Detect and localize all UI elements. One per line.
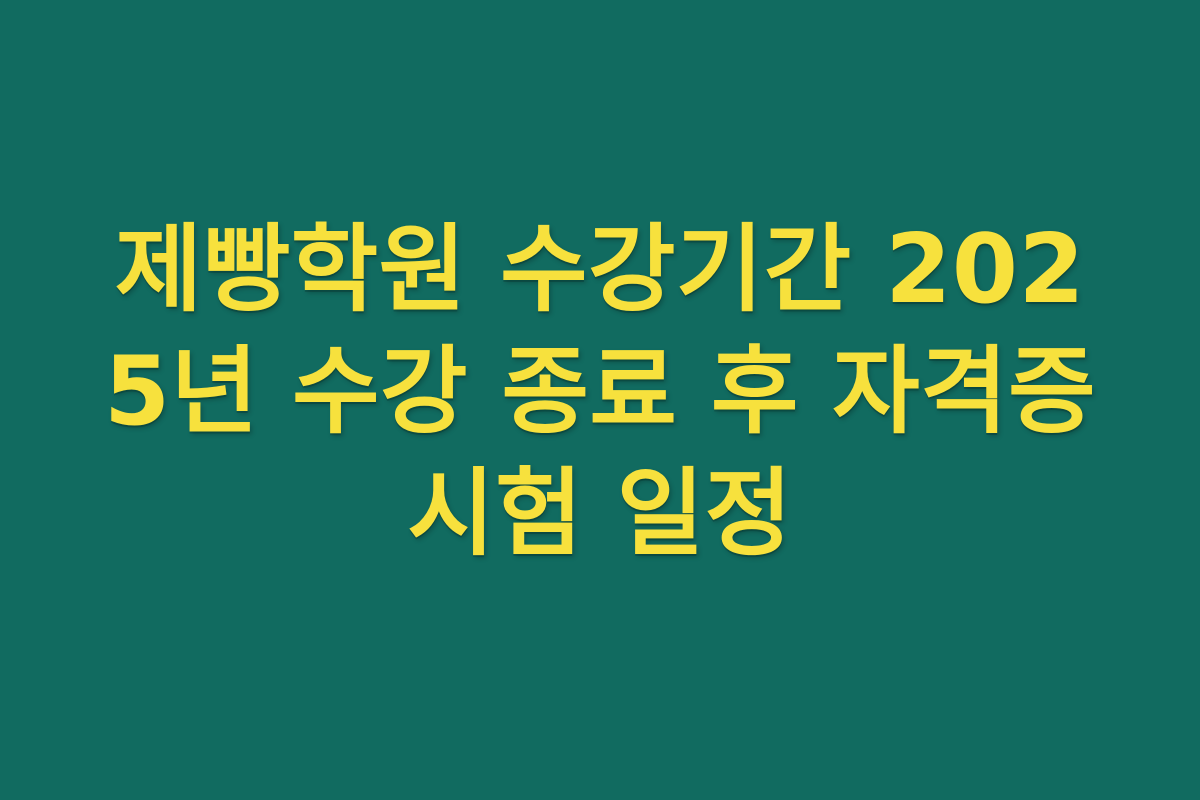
headline-line-3: 시험 일정 — [85, 453, 1115, 575]
headline-line-2: 5년 수강 종료 후 자격증 — [85, 331, 1115, 453]
headline-block: 제빵학원 수강기간 202 5년 수강 종료 후 자격증 시험 일정 — [85, 209, 1115, 575]
title-card-canvas: 제빵학원 수강기간 202 5년 수강 종료 후 자격증 시험 일정 — [0, 0, 1200, 800]
headline-line-1: 제빵학원 수강기간 202 — [85, 209, 1115, 331]
